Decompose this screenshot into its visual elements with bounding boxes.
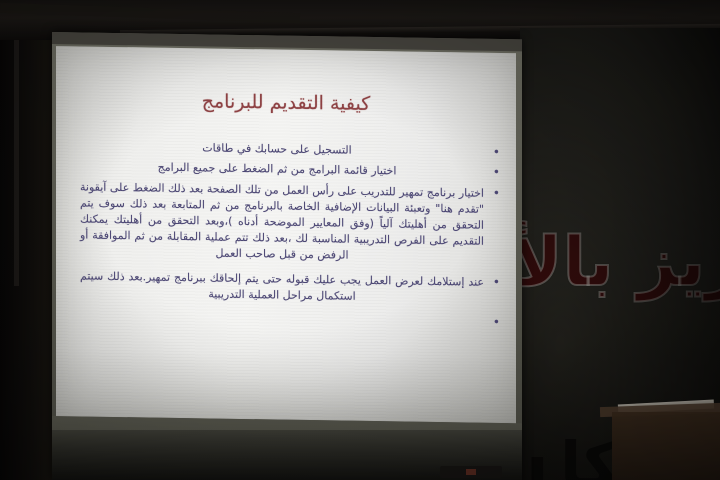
ceiling-beam	[0, 3, 300, 23]
projected-image-area: كيفية التقديم للبرنامج التسجيل على حسابك…	[56, 46, 516, 423]
slide-bullet-register: التسجيل على حسابك في طاقات	[70, 138, 502, 161]
presentation-slide: كيفية التقديم للبرنامج التسجيل على حسابك…	[56, 46, 516, 423]
screen-base-indicator	[466, 469, 476, 475]
podium	[612, 412, 720, 480]
slide-bullet-accept-offer: عند إستلامك لعرض العمل يجب عليك قبوله حت…	[70, 268, 502, 307]
left-wall	[0, 0, 54, 480]
slide-bullet-tamheer-apply: اختيار برنامج تمهير للتدريب على رأس العم…	[70, 179, 502, 265]
slide-bullet-list: التسجيل على حسابك في طاقات اختيار قائمة …	[70, 138, 502, 328]
slide-title: كيفية التقديم للبرنامج	[70, 46, 502, 117]
room-scene: ـعزيز بالأ ـكا ـرا كيفية التقديم للبرنام…	[0, 0, 720, 480]
wall-edge-highlight	[14, 36, 19, 286]
slide-bullet-programs-list: اختيار قائمة البرامج من ثم الضغط على جمي…	[70, 158, 502, 181]
slide-bullet-empty	[70, 309, 502, 329]
projection-screen: كيفية التقديم للبرنامج التسجيل على حسابك…	[52, 32, 522, 480]
